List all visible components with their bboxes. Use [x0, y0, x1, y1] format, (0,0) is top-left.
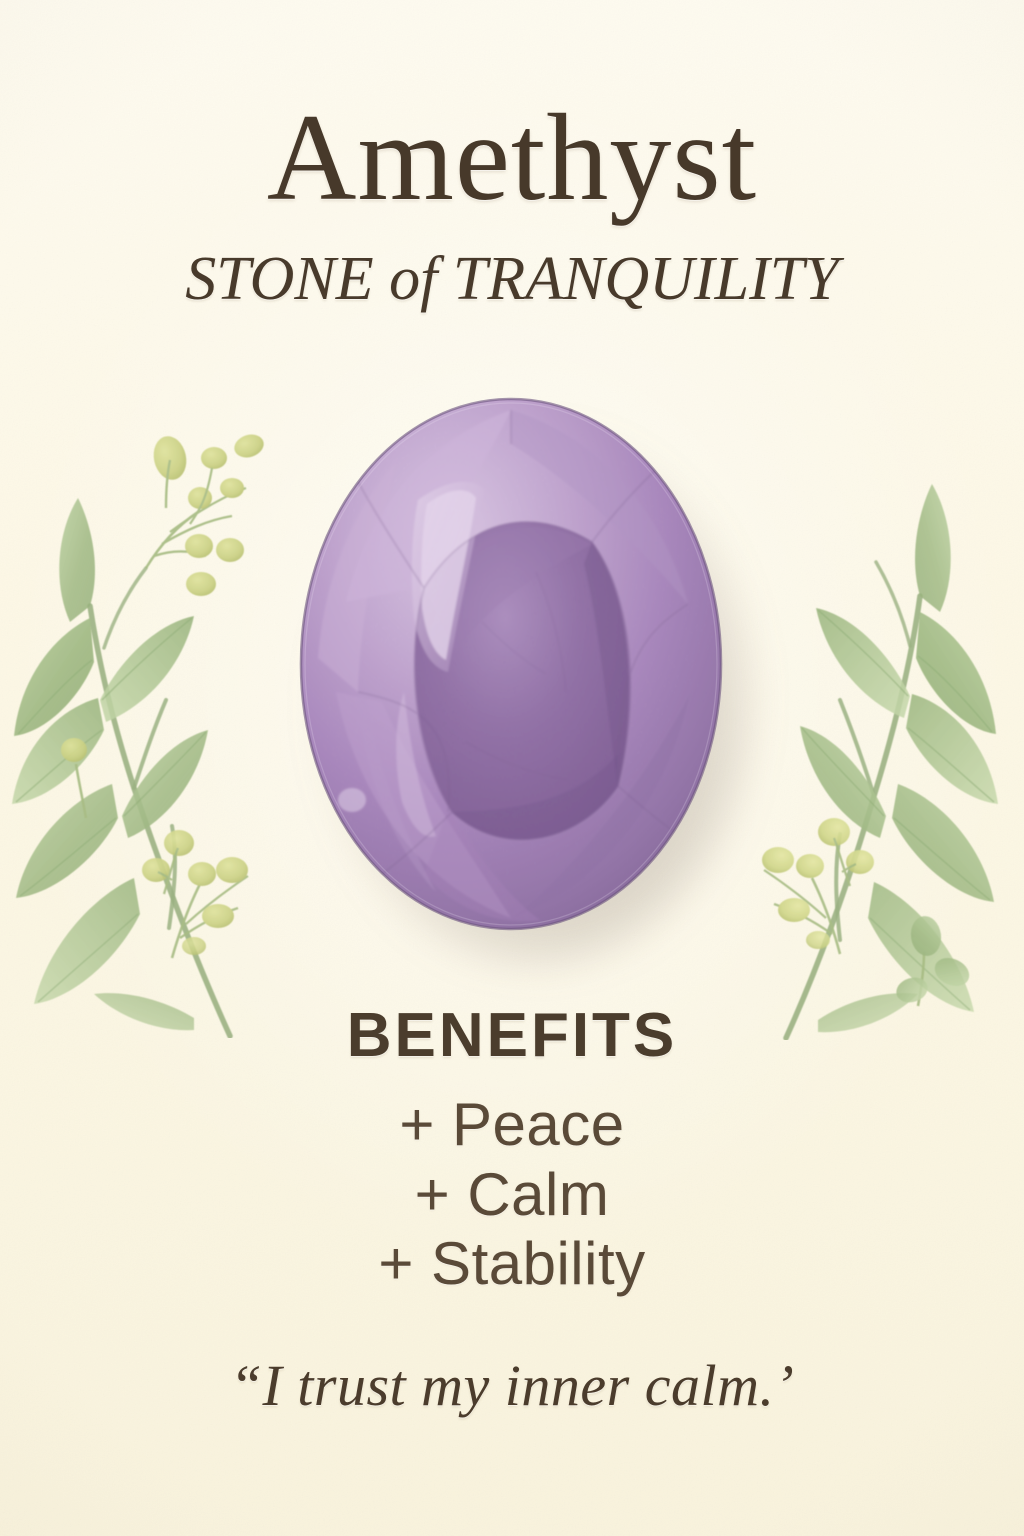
- amethyst-gemstone: [296, 392, 736, 944]
- affirmation-quote: “I trust my inner calm.’: [0, 1352, 1024, 1419]
- list-item: + Peace: [0, 1090, 1024, 1160]
- list-item: + Calm: [0, 1160, 1024, 1230]
- watercolor-leaf-sprig-icon: [0, 318, 294, 1038]
- watercolor-leaf-sprig-mirrored-icon: [730, 300, 1024, 1040]
- crystal-info-card: Amethyst STONE of TRANQUILITY BENEFITS +…: [0, 0, 1024, 1536]
- oval-faceted-amethyst-gem-icon: [296, 392, 736, 944]
- benefits-list: + Peace + Calm + Stability: [0, 1090, 1024, 1299]
- page-subtitle: STONE of TRANQUILITY: [0, 248, 1024, 310]
- page-title: Amethyst: [0, 96, 1024, 220]
- benefits-heading: BENEFITS: [0, 1000, 1024, 1071]
- list-item: + Stability: [0, 1229, 1024, 1299]
